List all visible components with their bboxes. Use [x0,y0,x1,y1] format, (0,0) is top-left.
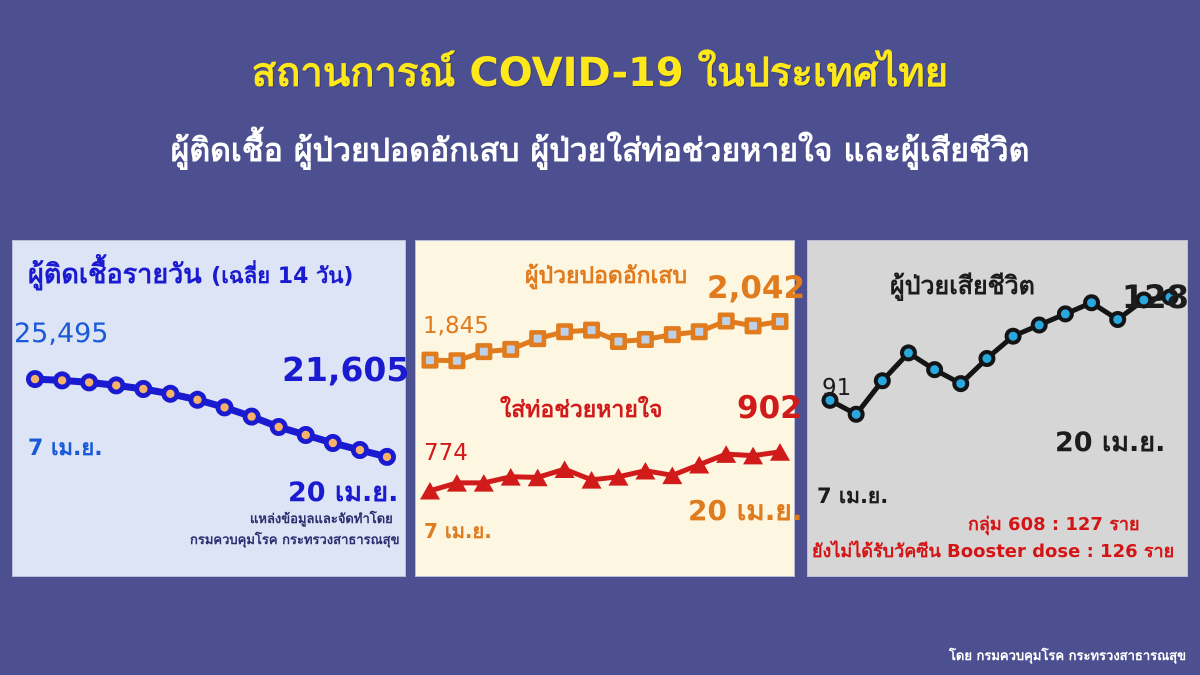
deaths-end-date: 20 เม.ย. [1055,420,1165,463]
source-line-1: แหล่งข้อมูลและจัดทำโดย [250,508,390,529]
ventilator-title: ใส่ท่อช่วยหายใจ [500,392,663,428]
deaths-note-608: กลุ่ม 608 : 127 ราย [968,509,1140,538]
ventilator-start-value: 774 [424,440,468,466]
deaths-start-date: 7 เม.ย. [817,480,888,513]
deaths-title: ผู้ป่วยเสียชีวิต [890,266,1035,306]
deaths-start-value: 91 [822,375,851,401]
source-line-2: กรมควบคุมโรค กระทรวงสาธารณสุข [190,529,390,550]
daily-cases-title: ผู้ติดเชื้อรายวัน (เฉลี่ย 14 วัน) [28,252,353,295]
daily-cases-end-date: 20 เม.ย. [288,470,398,513]
pneumonia-start-date: 7 เม.ย. [424,515,492,547]
pneumonia-end-date: 20 เม.ย. [688,489,802,533]
daily-cases-start-value: 25,495 [14,318,108,349]
daily-cases-title-sub: (เฉลี่ย 14 วัน) [211,264,353,289]
page-title: สถานการณ์ COVID-19 ในประเทศไทย [0,40,1200,104]
daily-cases-title-main: ผู้ติดเชื้อรายวัน [28,259,202,290]
deaths-note-booster: ยังไม่ได้รับวัคซีน Booster dose : 126 รา… [812,536,1174,565]
header: สถานการณ์ COVID-19 ในประเทศไทย ผู้ติดเชื… [0,0,1200,215]
pneumonia-end-value: 2,042 [707,270,805,306]
footer-attribution: โดย กรมควบคุมโรค กระทรวงสาธารณสุข [949,645,1186,666]
pneumonia-title: ผู้ป่วยปอดอักเสบ [525,258,687,294]
ventilator-end-value: 902 [737,390,802,426]
page-subtitle: ผู้ติดเชื้อ ผู้ป่วยปอดอักเสบ ผู้ป่วยใส่ท… [0,125,1200,176]
pneumonia-start-value: 1,845 [423,313,489,339]
daily-cases-end-value: 21,605 [282,350,409,389]
daily-cases-start-date: 7 เม.ย. [28,430,103,465]
deaths-end-value: 128 [1122,278,1189,316]
